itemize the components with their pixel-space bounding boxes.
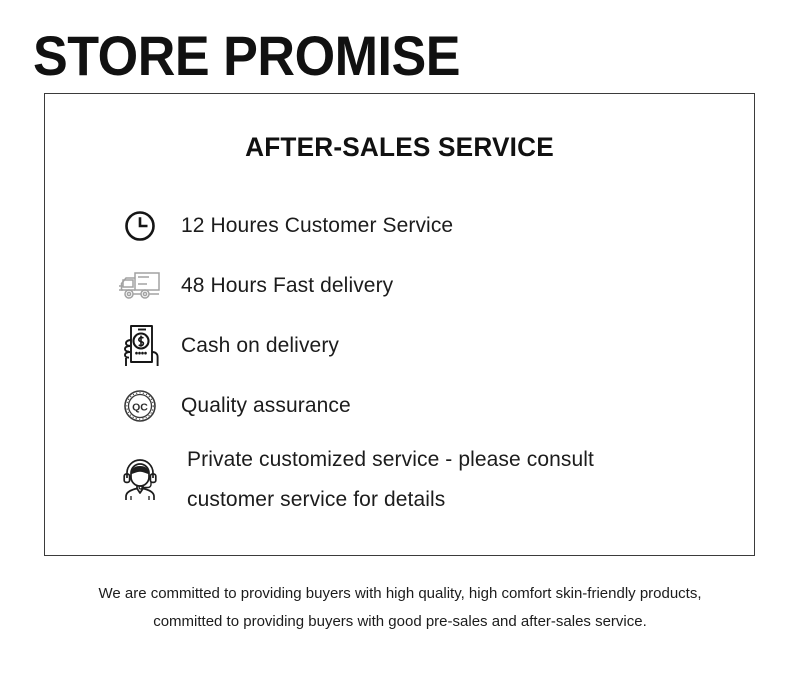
list-item: Private customized service - please cons… (111, 436, 734, 524)
list-item: QC Quality assurance (111, 376, 734, 436)
list-item-label: Private customized service - please cons… (169, 440, 594, 520)
footer-note: We are committed to providing buyers wit… (60, 580, 740, 636)
list-item: 48 Hours Fast delivery (111, 256, 734, 316)
page-title: STORE PROMISE (33, 28, 460, 84)
customer-service-agent-icon (111, 454, 169, 506)
svg-text:QC: QC (132, 401, 148, 413)
footer-line-1: We are committed to providing buyers wit… (60, 580, 740, 608)
list-item: 12 Houres Customer Service (111, 196, 734, 256)
list-item-label-line1: Private customized service - please cons… (187, 440, 594, 480)
delivery-truck-icon (111, 260, 169, 312)
store-promise-panel: AFTER-SALES SERVICE 12 Houres Customer S… (44, 93, 755, 556)
mobile-payment-icon (111, 320, 169, 372)
list-item-label: Quality assurance (169, 386, 351, 426)
footer-line-2: committed to providing buyers with good … (60, 608, 740, 636)
list-item-label-line2: customer service for details (187, 480, 594, 520)
after-sales-service-heading: AFTER-SALES SERVICE (56, 132, 744, 163)
quality-control-seal-icon: QC (111, 380, 169, 432)
clock-icon (111, 200, 169, 252)
service-list: 12 Houres Customer Service (111, 196, 734, 524)
list-item: Cash on delivery (111, 316, 734, 376)
list-item-label: Cash on delivery (169, 326, 339, 366)
list-item-label: 48 Hours Fast delivery (169, 266, 393, 306)
list-item-label: 12 Houres Customer Service (169, 206, 453, 246)
